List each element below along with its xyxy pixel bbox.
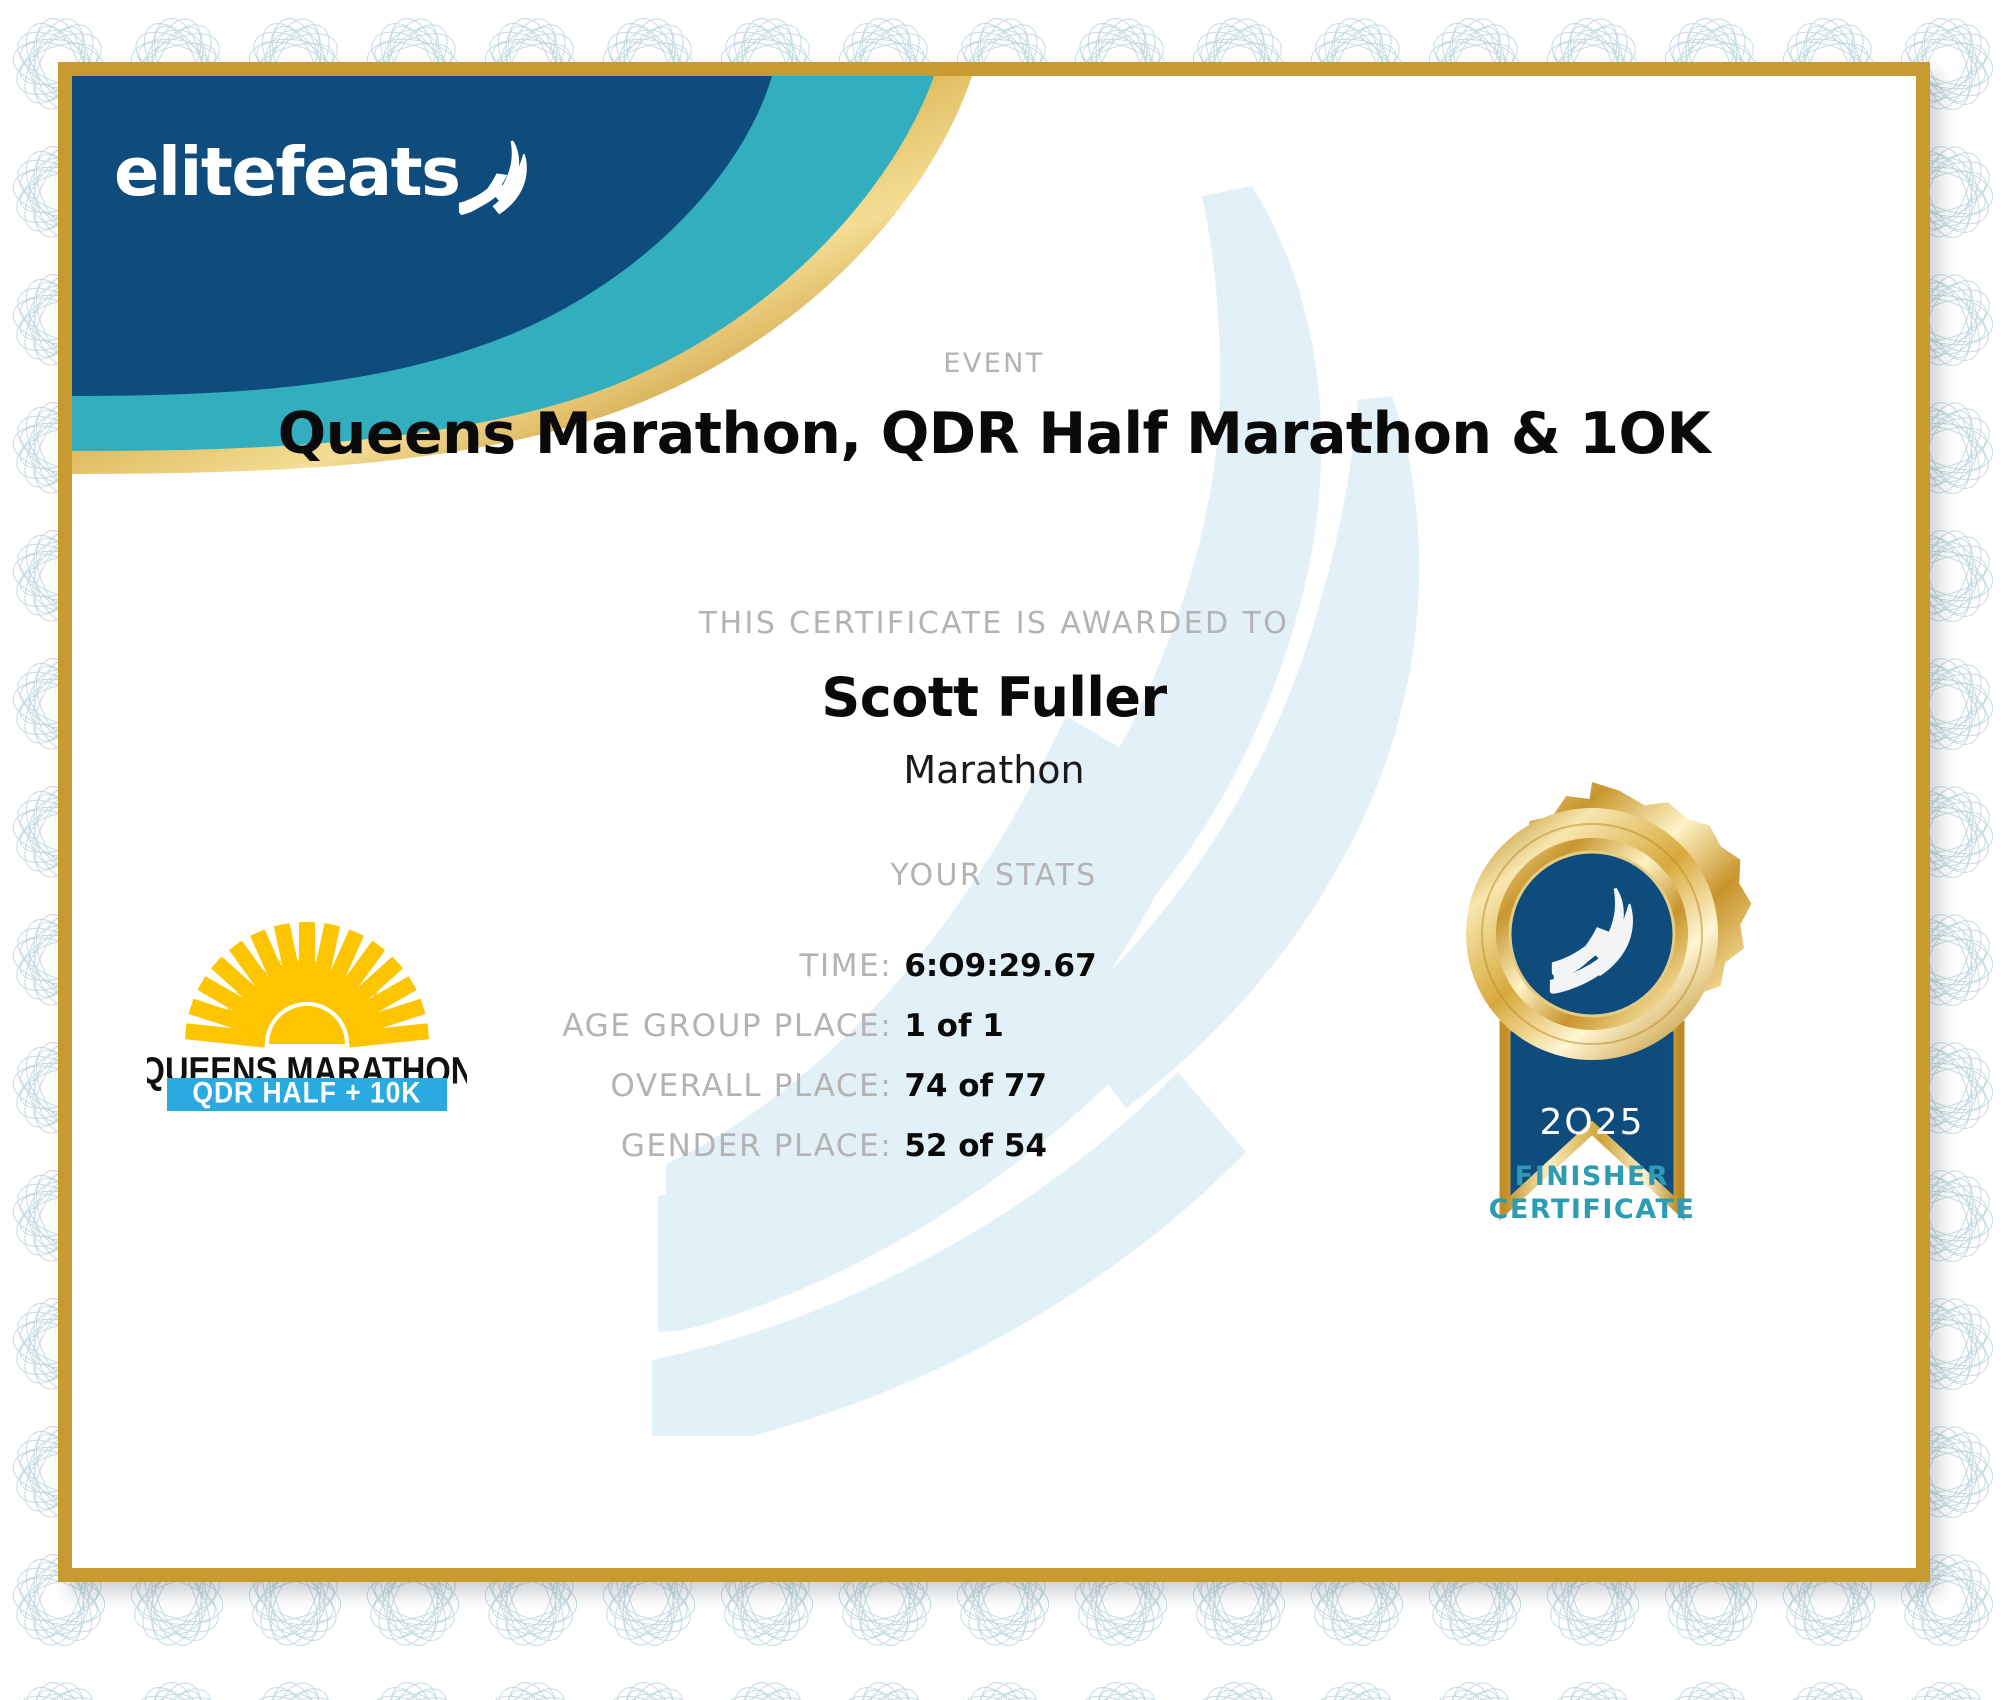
medal-caption-line2: CERTIFICATE: [1427, 1194, 1757, 1227]
table-row: GENDER PLACE: 52 of 54: [464, 1116, 1152, 1176]
stat-value-gender-place: 52 of 54: [904, 1116, 1152, 1176]
certificate-page: elitefeats EVENT Queens Marathon, QDR Ha…: [0, 0, 2001, 1700]
winged-foot-icon: [454, 134, 536, 216]
certificate-card: elitefeats EVENT Queens Marathon, QDR Ha…: [72, 76, 1916, 1568]
stats-table: TIME: 6:O9:29.67 AGE GROUP PLACE: 1 of 1…: [464, 936, 1152, 1176]
gold-border-frame: elitefeats EVENT Queens Marathon, QDR Ha…: [58, 62, 1930, 1582]
medal-year: 2O25: [1539, 1102, 1644, 1143]
stat-value-time: 6:O9:29.67: [904, 936, 1152, 996]
stat-value-overall-place: 74 of 77: [904, 1056, 1152, 1116]
table-row: OVERALL PLACE: 74 of 77: [464, 1056, 1152, 1116]
stat-label-age-group-place: AGE GROUP PLACE:: [464, 996, 904, 1056]
stat-label-overall-place: OVERALL PLACE:: [464, 1056, 904, 1116]
certificate-body: EVENT Queens Marathon, QDR Half Marathon…: [72, 76, 1916, 1568]
awarded-to-label: THIS CERTIFICATE IS AWARDED TO: [72, 606, 1916, 641]
stat-value-age-group-place: 1 of 1: [904, 996, 1152, 1056]
table-row: AGE GROUP PLACE: 1 of 1: [464, 996, 1152, 1056]
event-label: EVENT: [72, 348, 1916, 379]
stat-label-gender-place: GENDER PLACE:: [464, 1116, 904, 1176]
finisher-medal-badge: 2O25: [1427, 776, 1757, 1336]
recipient-name: Scott Fuller: [72, 666, 1916, 729]
brand-name: elitefeats: [114, 139, 460, 206]
stat-label-time: TIME:: [464, 936, 904, 996]
brand-logo: elitefeats: [114, 128, 536, 216]
queens-marathon-logo: QUEENS DISTANCE RUNNERS QUEENS MARATHON …: [147, 866, 467, 1116]
logo-sub-text: QDR HALF + 10K: [192, 1076, 421, 1108]
event-title: Queens Marathon, QDR Half Marathon & 1OK: [72, 401, 1916, 467]
table-row: TIME: 6:O9:29.67: [464, 936, 1152, 996]
medal-caption-line1: FINISHER: [1427, 1161, 1757, 1194]
medal-caption: FINISHER CERTIFICATE: [1427, 1161, 1757, 1227]
